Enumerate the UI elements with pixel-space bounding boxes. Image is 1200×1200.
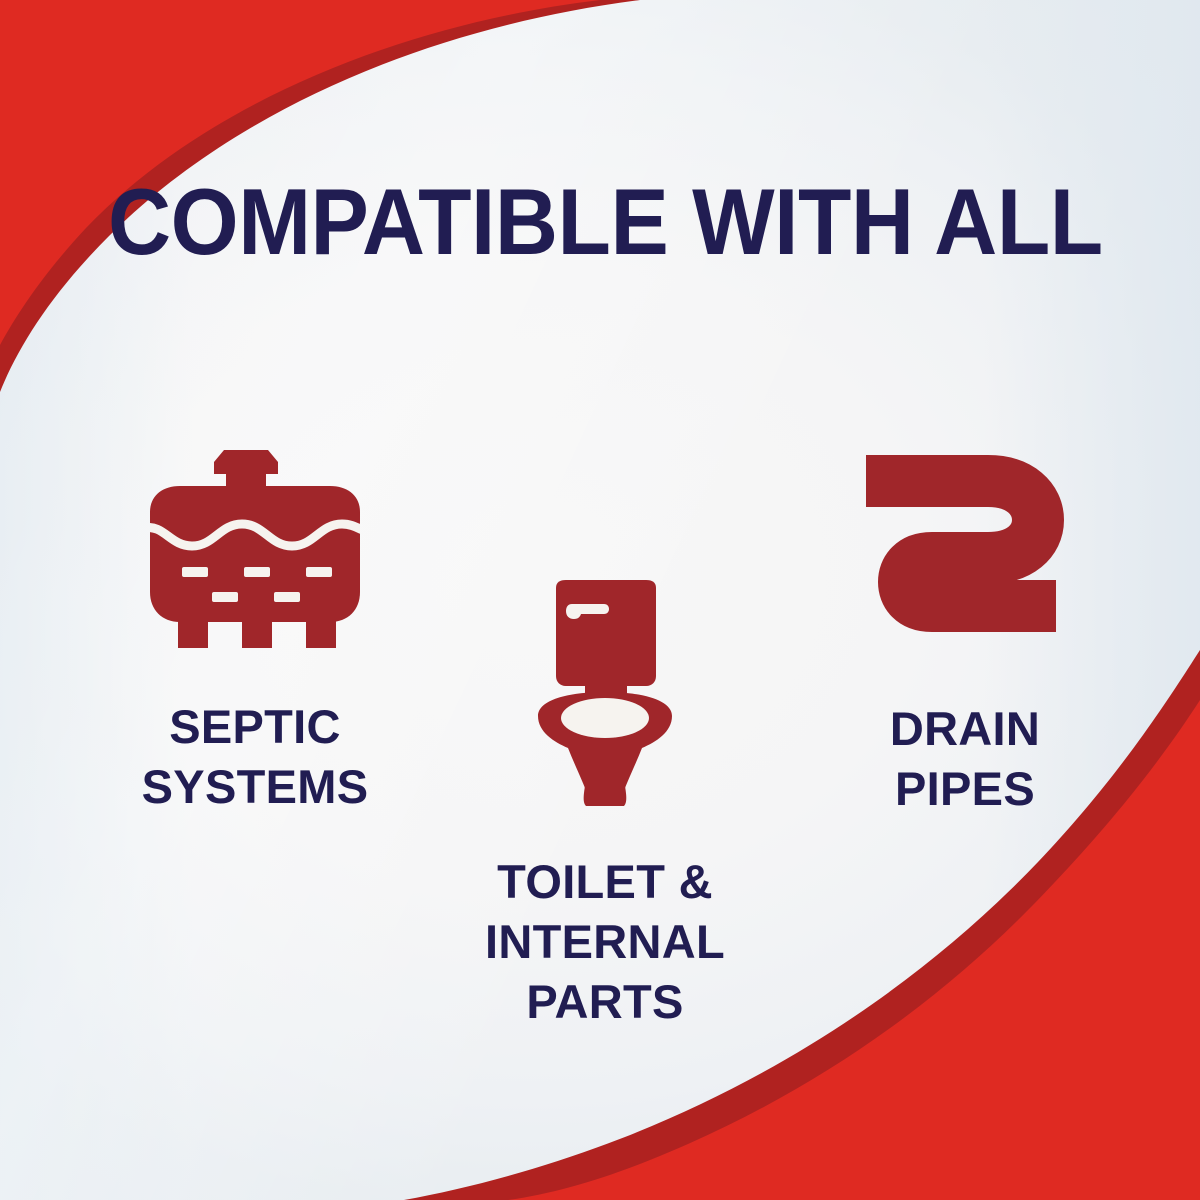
toilet-cistern [556,580,656,686]
feature-label-septic: SEPTIC SYSTEMS [70,697,440,817]
infographic-banner: COMPATIBLE WITH ALL [0,0,1200,1200]
feature-item-toilet: TOILET & INTERNAL PARTS [455,580,755,1033]
toilet-icon [455,580,755,822]
drain-pipe-serpentine [866,481,1056,606]
page-title: COMPATIBLE WITH ALL [108,175,1038,269]
feature-label-drain: DRAIN PIPES [800,699,1130,819]
toilet-pedestal [584,780,627,806]
drain-pipe-icon [800,448,1130,667]
feature-item-septic: SEPTIC SYSTEMS [70,440,440,817]
septic-tank-icon [70,440,440,669]
feature-item-drain: DRAIN PIPES [800,448,1130,819]
toilet-seat-opening [561,698,649,738]
feature-label-toilet: TOILET & INTERNAL PARTS [455,852,755,1032]
septic-tank-legs [178,610,336,648]
septic-tank-body [150,486,360,622]
